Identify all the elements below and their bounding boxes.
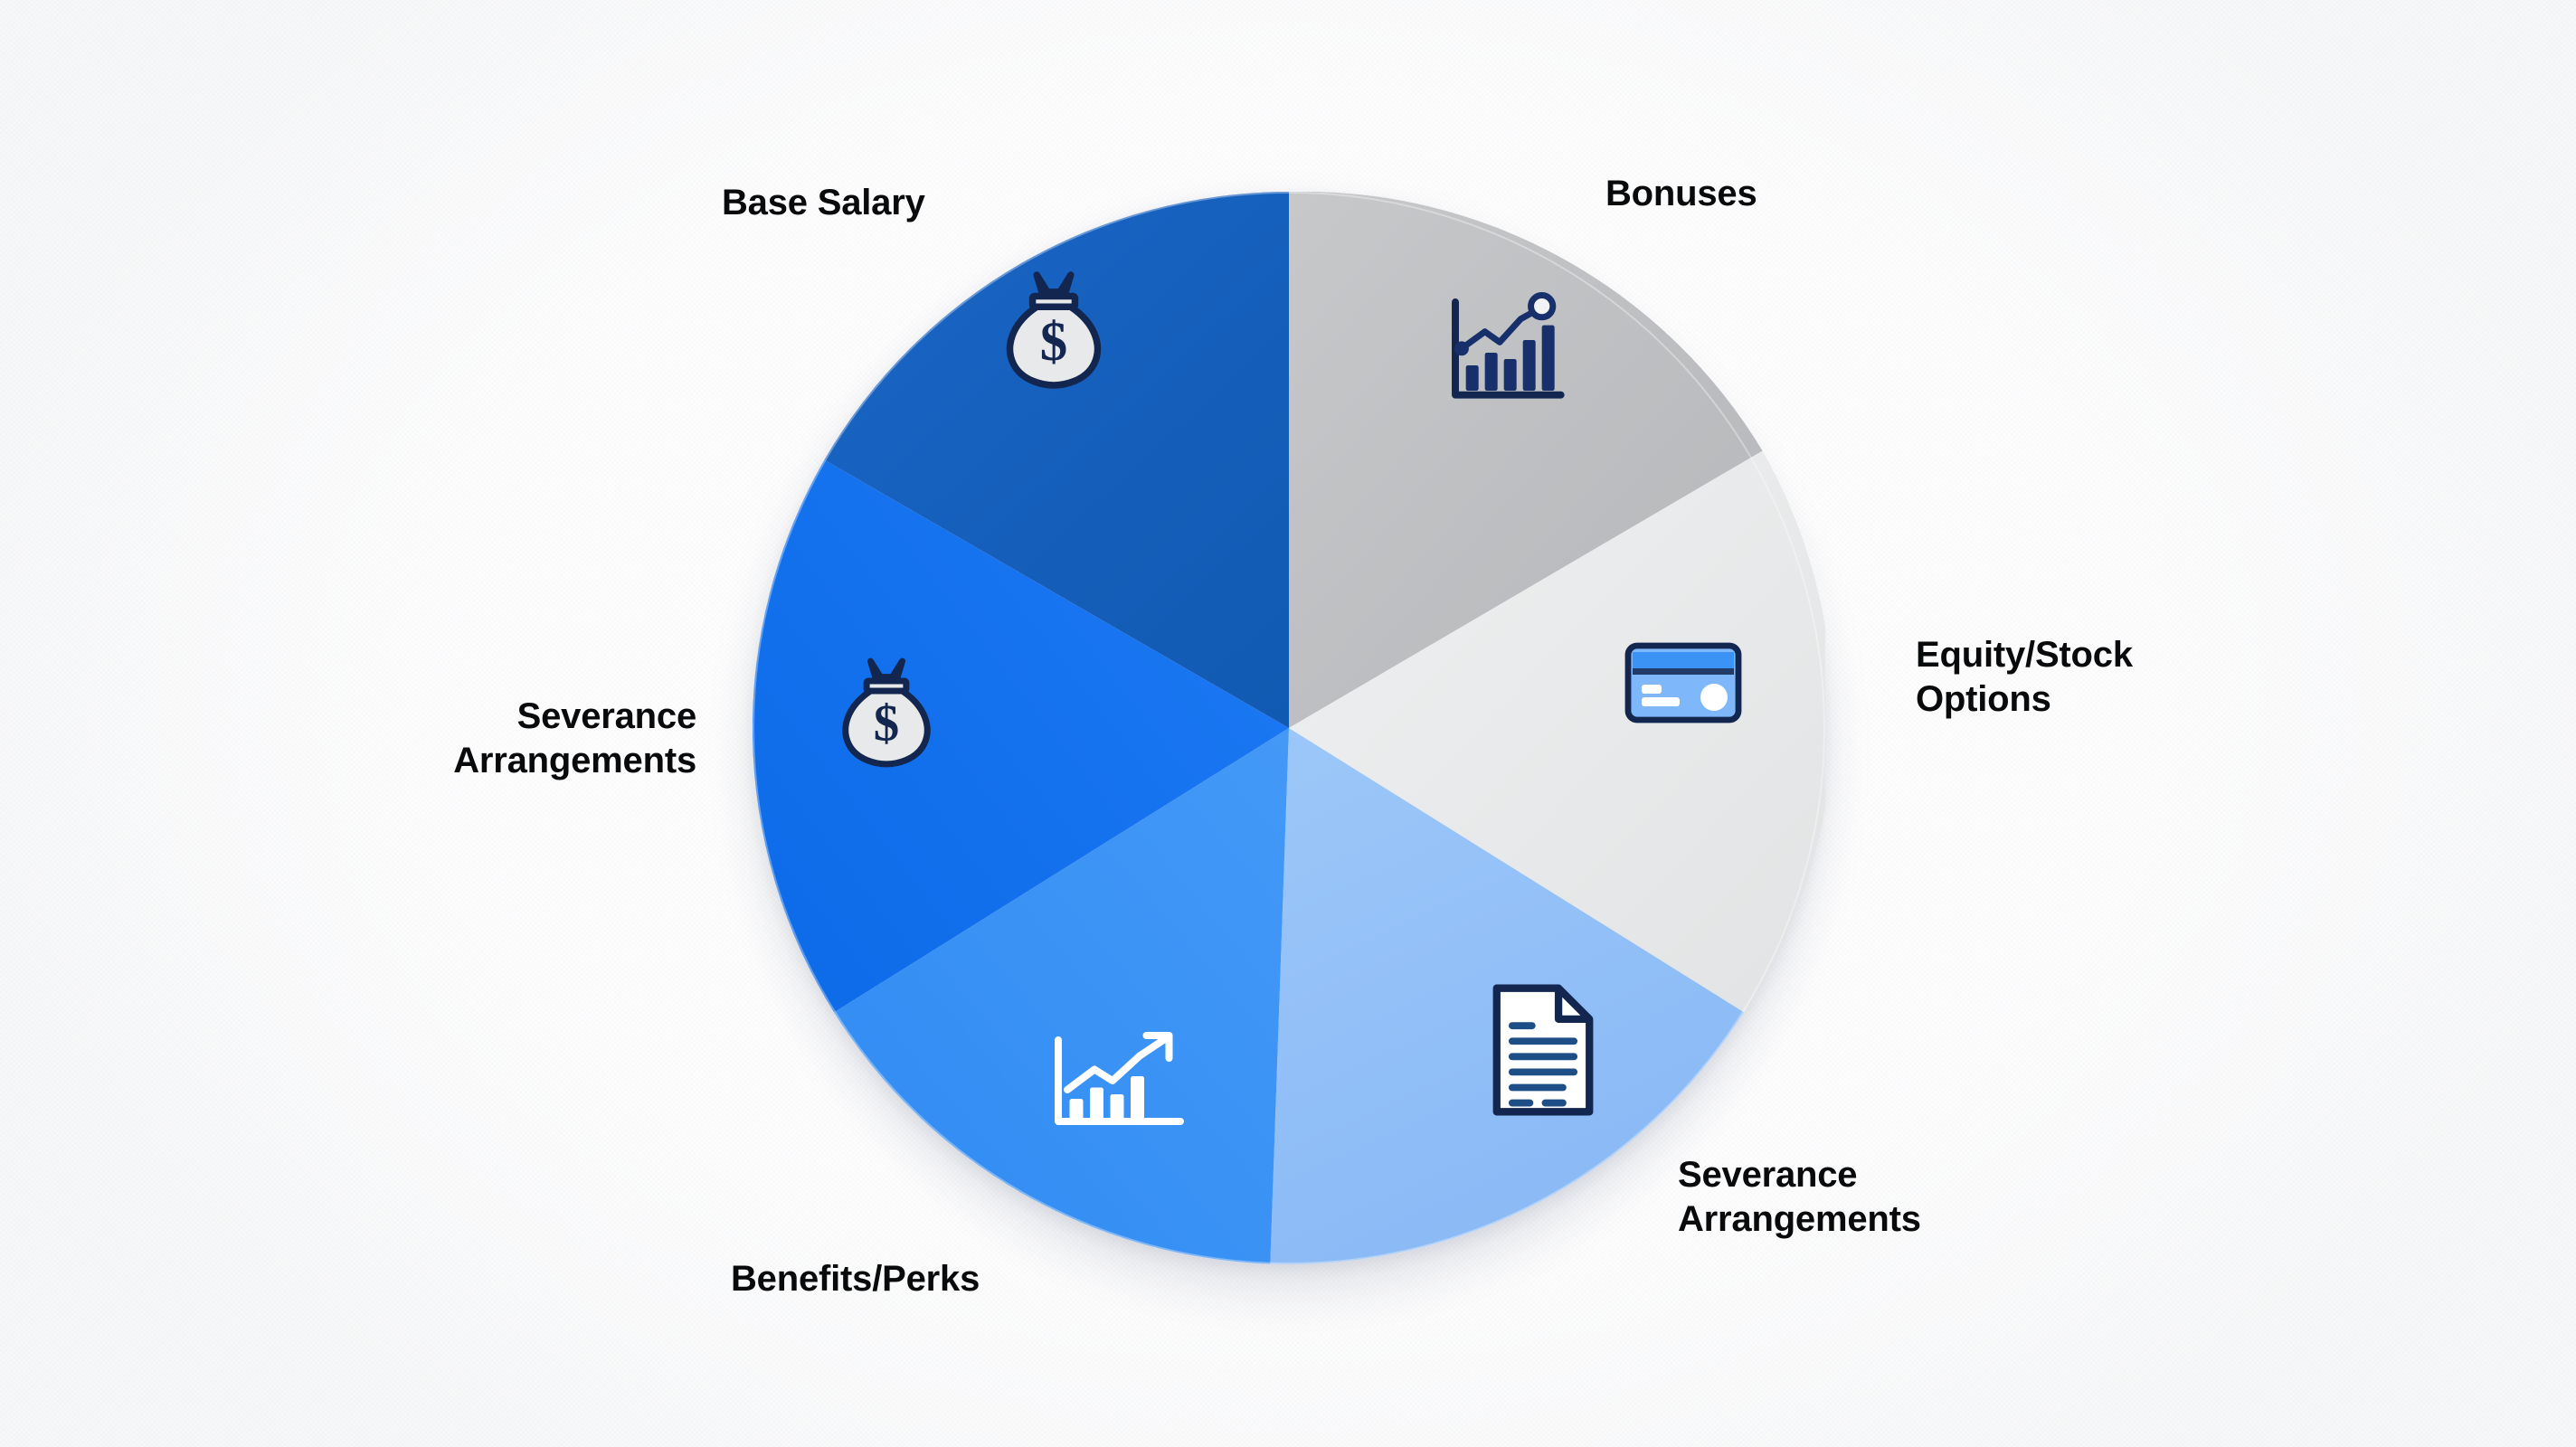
svg-text:$: $ [874, 695, 899, 752]
bar-chart-arrow-icon [1045, 1026, 1189, 1140]
chart-canvas: $ [0, 0, 2576, 1447]
pie-label-bonuses: Bonuses [1605, 172, 1757, 216]
credit-card-icon [1624, 638, 1743, 733]
svg-text:$: $ [1040, 312, 1067, 373]
money-bag-icon: $ [986, 262, 1122, 402]
money-bag-icon: $ [823, 649, 950, 780]
document-icon [1488, 981, 1598, 1123]
pie-label-base-salary: Base Salary [722, 181, 925, 225]
pie-label-severance-arrangements-right: Severance Arrangements [1678, 1153, 1921, 1242]
pie-label-severance-arrangements-left: Severance Arrangements [371, 695, 696, 783]
pie-label-equity-stock-options: Equity/Stock Options [1916, 633, 2133, 722]
pie-label-benefits-perks: Benefits/Perks [731, 1257, 980, 1301]
bar-chart-growth-icon [1438, 289, 1574, 421]
